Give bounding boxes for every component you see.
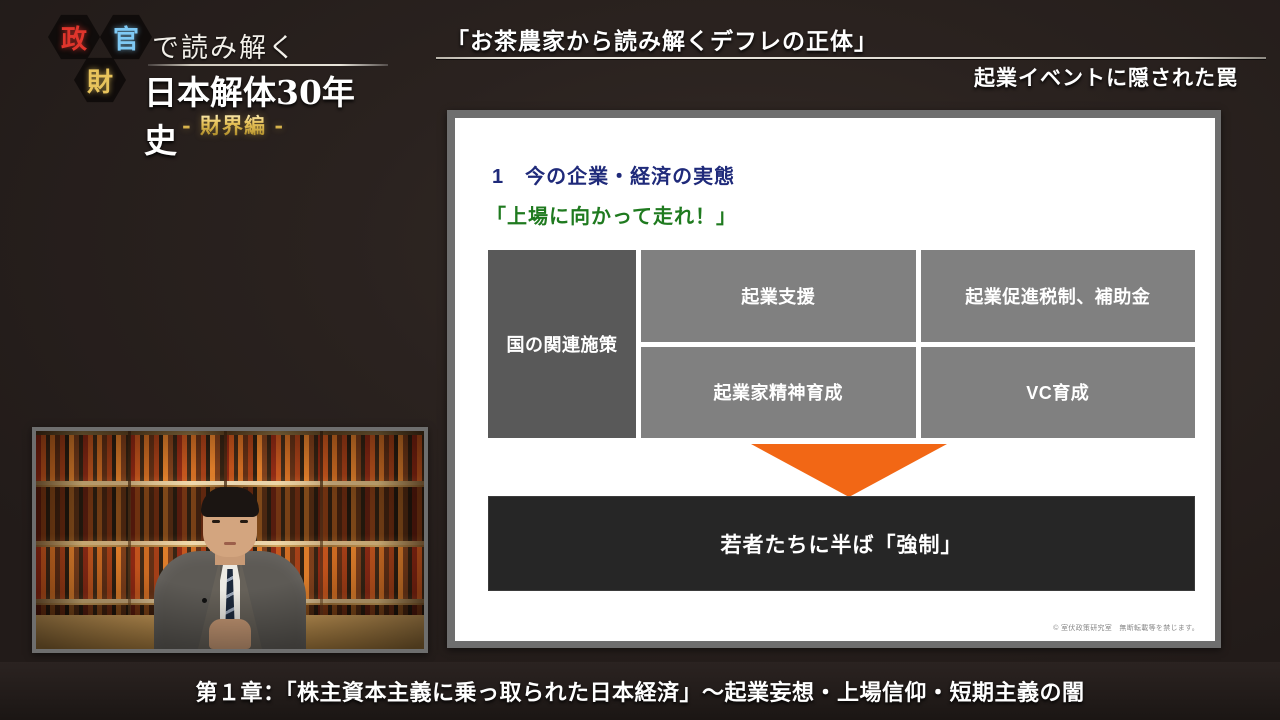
chapter-caption-text: 第１章：「株主資本主義に乗っ取られた日本経済」〜起業妄想・上場信仰・短期主義の闇 xyxy=(195,675,1084,707)
matrix-cell: 起業家精神育成 xyxy=(641,347,916,439)
episode-title: 「お茶農家から読み解くデフレの正体」 xyxy=(446,22,878,56)
slide-canvas: 1 今の企業・経済の実態 「上場に向かって走れ！」 国の関連施策 起業支援 起業… xyxy=(455,118,1215,641)
presenter-video-frame xyxy=(32,427,428,653)
slide-heading: 1 今の企業・経済の実態 xyxy=(492,160,735,189)
presenter-video xyxy=(36,431,424,649)
policy-matrix: 国の関連施策 起業支援 起業促進税制、補助金 起業家精神育成 VC育成 xyxy=(488,250,1195,438)
matrix-row-label: 国の関連施策 xyxy=(488,250,636,438)
header-divider xyxy=(436,57,1266,59)
video-vignette xyxy=(36,431,424,649)
video-frame-stage: 政 官 財 で読み解く 日本解体30年史 - 財界編 - 「お茶農家から読み解く… xyxy=(0,0,1280,720)
matrix-grid: 起業支援 起業促進税制、補助金 起業家精神育成 VC育成 xyxy=(641,250,1195,438)
logo-tagline: で読み解く xyxy=(152,26,297,65)
episode-subtitle: 起業イベントに隠された罠 xyxy=(974,62,1238,92)
logo-series-subtitle: - 財界編 - xyxy=(182,110,284,140)
logo-badge-sei: 政 xyxy=(48,14,100,60)
matrix-cell: 起業促進税制、補助金 xyxy=(921,250,1196,342)
slide-frame: 1 今の企業・経済の実態 「上場に向かって走れ！」 国の関連施策 起業支援 起業… xyxy=(447,110,1221,648)
logo-badge-zai: 財 xyxy=(74,57,126,103)
matrix-cell: VC育成 xyxy=(921,347,1196,439)
matrix-cell: 起業支援 xyxy=(641,250,916,342)
programme-logo: 政 官 財 で読み解く 日本解体30年史 - 財界編 - xyxy=(44,12,384,130)
chapter-caption-bar: 第１章：「株主資本主義に乗っ取られた日本経済」〜起業妄想・上場信仰・短期主義の闇 xyxy=(0,662,1280,720)
conclusion-banner: 若者たちに半ば「強制」 xyxy=(488,496,1195,591)
down-arrow-icon xyxy=(751,444,947,497)
copyright-notice: © 室伏政策研究室 無断転載等を禁じます。 xyxy=(1053,623,1199,633)
slide-subheading: 「上場に向かって走れ！」 xyxy=(486,200,737,229)
logo-badge-kan: 官 xyxy=(100,14,152,60)
